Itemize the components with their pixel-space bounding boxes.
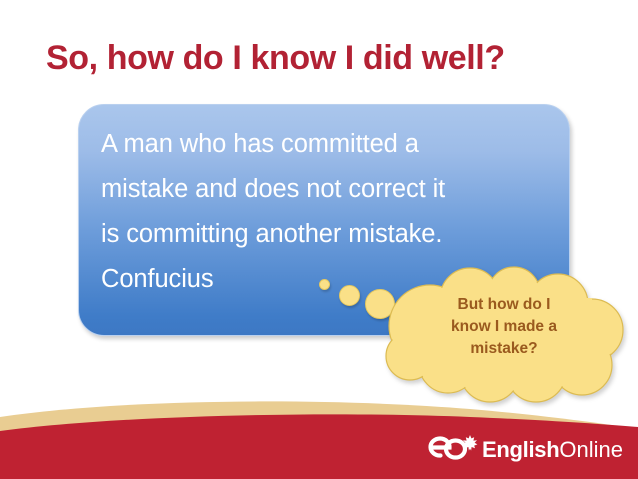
eo-logo-mark	[424, 433, 480, 467]
logo-word-english: English	[482, 437, 559, 462]
thought-dot-medium	[339, 285, 360, 306]
english-online-logo: EnglishOnline	[424, 430, 623, 470]
logo-word-online: Online	[559, 437, 623, 462]
eo-monogram-icon	[424, 433, 480, 467]
thought-dot-small	[319, 279, 330, 290]
thought-cloud-bubble: But how do I know I made a mistake?	[386, 268, 624, 400]
page-title: So, how do I know I did well?	[46, 36, 505, 80]
slide-canvas: So, how do I know I did well? A man who …	[0, 0, 638, 479]
thought-cloud-text: But how do I know I made a mistake?	[408, 294, 600, 360]
logo-wordmark: EnglishOnline	[482, 438, 623, 462]
